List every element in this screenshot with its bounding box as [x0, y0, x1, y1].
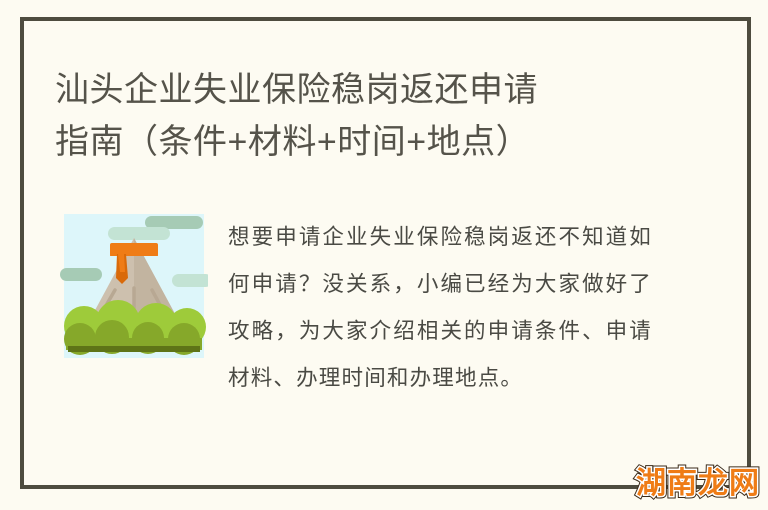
article-card: 汕头企业失业保险稳岗返还申请 指南（条件+材料+时间+地点）: [29, 26, 743, 482]
article-body-text: 想要申请企业失业保险稳岗返还不知道如何申请？没关系，小编已经为大家做好了攻略，为…: [228, 214, 652, 402]
site-watermark: 湖南龙网: [636, 464, 760, 504]
page-title: 汕头企业失业保险稳岗返还申请 指南（条件+材料+时间+地点）: [55, 64, 695, 168]
cloud-right: [172, 274, 208, 287]
ground-strip: [68, 346, 200, 352]
volcano-illustration: [60, 212, 208, 360]
cloud-top-mid: [108, 227, 170, 240]
cloud-left: [60, 268, 102, 281]
